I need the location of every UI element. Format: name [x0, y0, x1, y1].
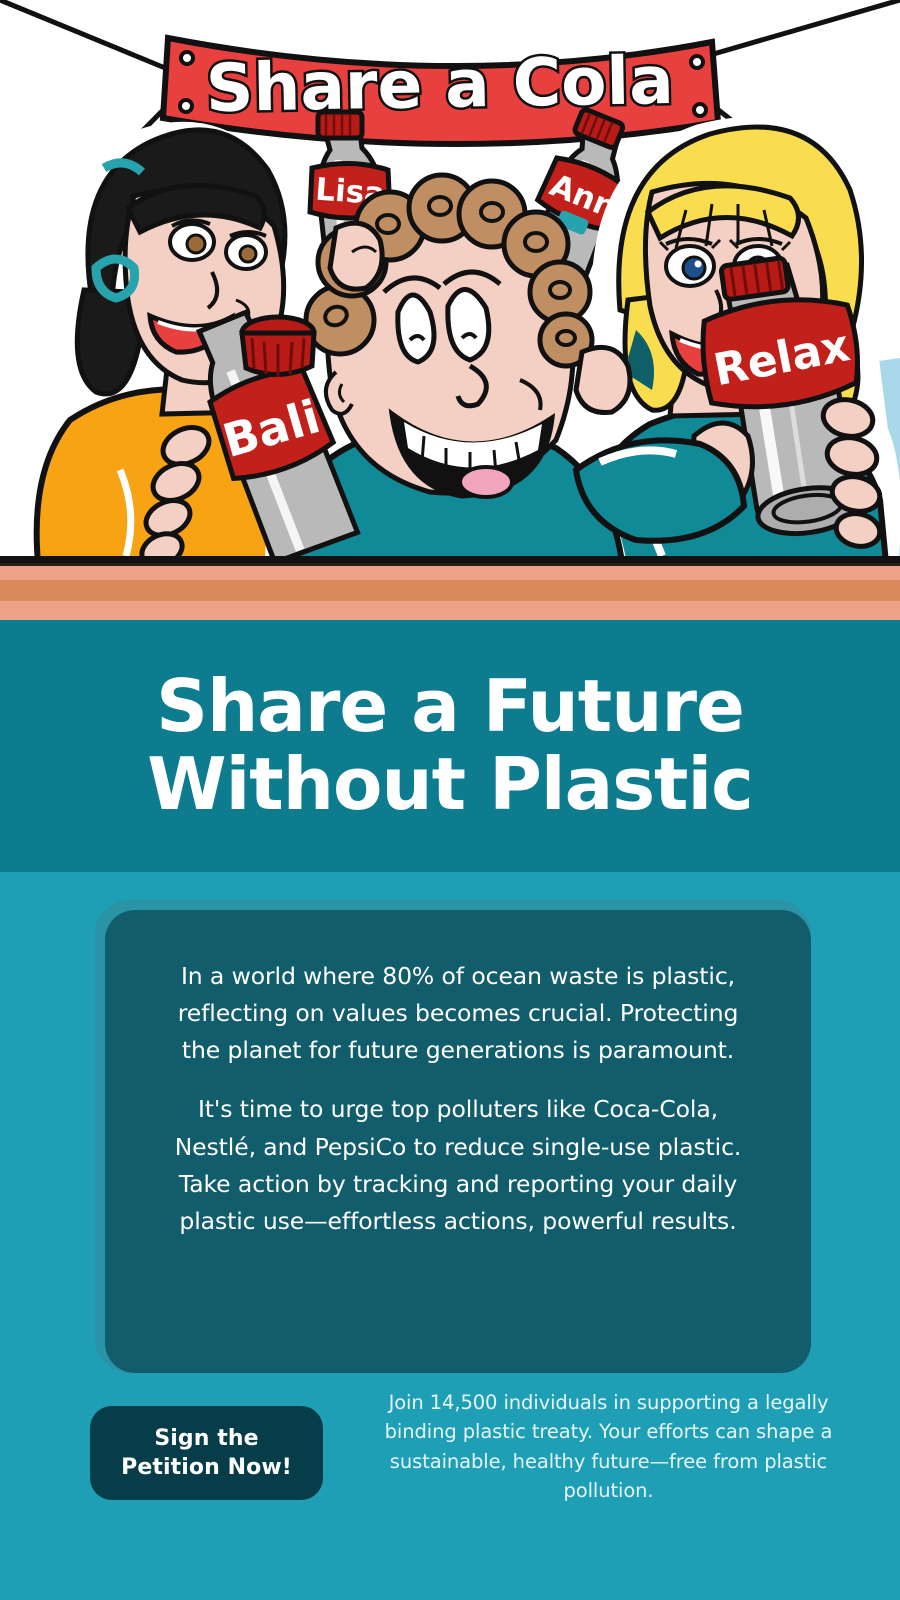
sign-petition-button[interactable]: Sign the Petition Now!: [90, 1406, 323, 1500]
poster-root: Share a Cola Lisa: [0, 0, 900, 1600]
hero-cartoon-svg: Share a Cola Lisa: [0, 0, 900, 563]
headline-band: Share a Future Without Plastic: [0, 620, 900, 872]
body-paragraph-2: It's time to urge top polluters like Coc…: [157, 1091, 759, 1240]
grommet-icon: [180, 100, 192, 112]
tongue: [460, 467, 512, 497]
illustration-bottom-edge: [0, 556, 900, 563]
info-card: In a world where 80% of ocean waste is p…: [105, 910, 811, 1373]
cta-line-2: Petition Now!: [100, 1453, 313, 1482]
shelf-band-light-bottom: [0, 601, 900, 620]
shelf-divider: [0, 563, 900, 620]
hand-raising-lisa: [330, 223, 382, 289]
shelf-band-light-top: [0, 566, 900, 580]
grommet-icon: [691, 56, 703, 68]
hero-illustration: Share a Cola Lisa: [0, 0, 900, 563]
footer-row: Sign the Petition Now! Join 14,500 indiv…: [0, 1388, 900, 1505]
bottle-cap-bali: [242, 317, 314, 377]
cta-line-1: Sign the: [100, 1424, 313, 1453]
body-section: In a world where 80% of ocean waste is p…: [0, 872, 900, 1600]
grommet-icon: [694, 104, 706, 116]
headline-line-2: Without Plastic: [147, 746, 753, 824]
grommet-icon: [181, 52, 193, 64]
body-paragraph-1: In a world where 80% of ocean waste is p…: [157, 958, 759, 1069]
page-title: Share a Future Without Plastic: [107, 668, 793, 824]
hand-raising-ann: [576, 347, 630, 412]
supporter-note: Join 14,500 individuals in supporting a …: [369, 1388, 848, 1505]
share-a-cola-banner: Share a Cola: [163, 38, 718, 144]
headline-line-1: Share a Future: [147, 668, 753, 746]
shelf-band-dark: [0, 580, 900, 601]
bottle-cap: [318, 112, 362, 138]
